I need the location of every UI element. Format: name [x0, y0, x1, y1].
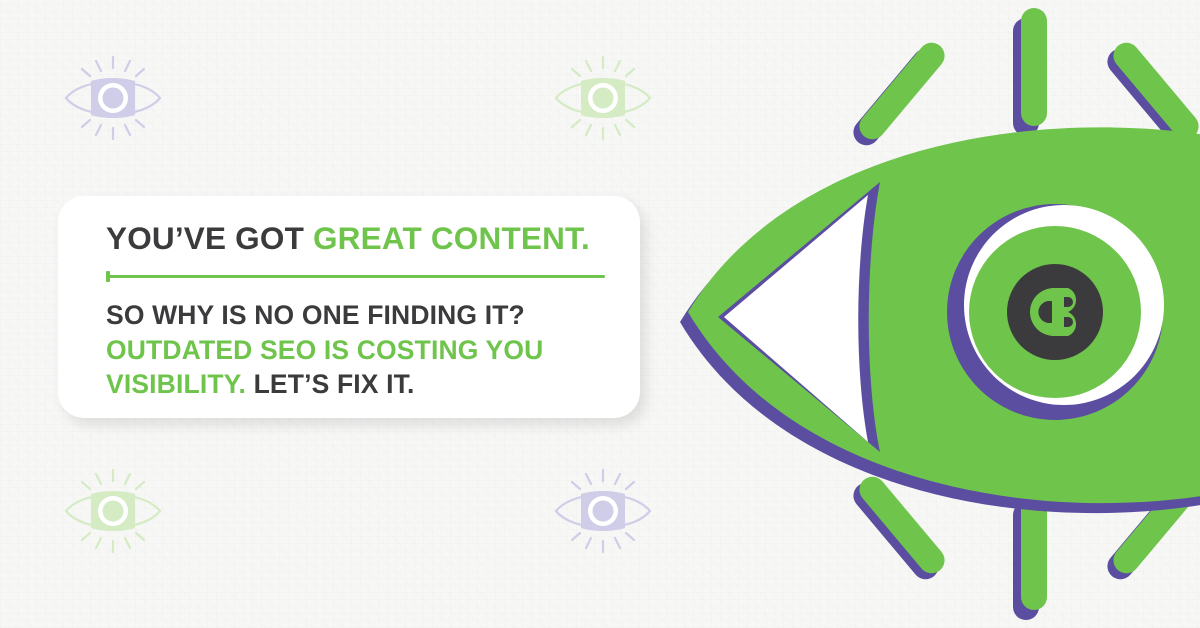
- deco-eye-top-left-icon: [58, 55, 168, 141]
- divider-rule: [108, 275, 605, 278]
- subline-3-plain: LET’S FIX IT.: [246, 369, 414, 399]
- subline-2-accent: OUTDATED SEO IS COSTING YOU: [106, 335, 543, 365]
- card-headline: YOU’VE GOT GREAT CONTENT.: [106, 222, 606, 255]
- ray-top-left: [848, 37, 950, 150]
- headline-plain: YOU’VE GOT: [106, 220, 313, 256]
- card-subline-1: SO WHY IS NO ONE FINDING IT?: [106, 298, 606, 332]
- ray-top-center: [1013, 8, 1047, 136]
- subline-1-plain: SO WHY IS NO ONE FINDING IT?: [106, 300, 525, 330]
- promo-banner: YOU’VE GOT GREAT CONTENT. SO WHY IS NO O…: [0, 0, 1200, 628]
- deco-eye-bottom-left-icon: [58, 468, 168, 554]
- brand-eye-logo: [640, 0, 1200, 628]
- card-subline-3: VISIBILITY. LET’S FIX IT.: [106, 367, 606, 401]
- ray-bottom-center: [1013, 492, 1047, 620]
- card-subline-2: OUTDATED SEO IS COSTING YOU: [106, 333, 606, 367]
- headline-divider: [106, 271, 606, 281]
- subline-3-accent: VISIBILITY.: [106, 369, 246, 399]
- headline-accent: GREAT CONTENT.: [313, 220, 590, 256]
- message-card: YOU’VE GOT GREAT CONTENT. SO WHY IS NO O…: [58, 196, 640, 418]
